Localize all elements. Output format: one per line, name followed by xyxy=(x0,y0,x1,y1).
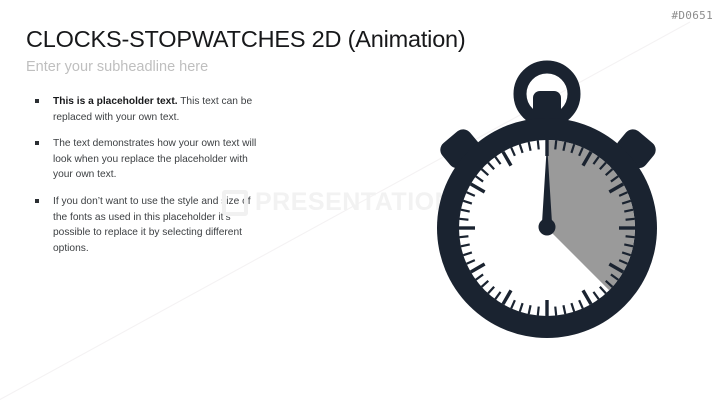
list-item-text: The text demonstrates how your own text … xyxy=(53,138,256,180)
list-item: This is a placeholder text. This text ca… xyxy=(34,94,264,125)
stopwatch-tick xyxy=(626,236,635,237)
page-title: CLOCKS-STOPWATCHES 2D (Animation) xyxy=(26,26,466,53)
bullet-square-icon xyxy=(35,99,39,103)
slide-code-label: #D0651 xyxy=(671,9,713,22)
stopwatch-graphic[interactable] xyxy=(420,55,680,355)
stopwatch-tick xyxy=(459,219,468,220)
stopwatch-tick xyxy=(555,307,556,316)
bullet-square-icon xyxy=(35,199,39,203)
stopwatch-tick xyxy=(626,219,635,220)
stopwatch-tick xyxy=(538,307,539,316)
list-item-text: If you don’t want to use the style and s… xyxy=(53,196,251,254)
slide-canvas: #D0651 CLOCKS-STOPWATCHES 2D (Animation)… xyxy=(0,0,727,409)
list-item: The text demonstrates how your own text … xyxy=(34,136,264,183)
stopwatch-tick xyxy=(538,140,539,149)
list-item: If you don’t want to use the style and s… xyxy=(34,194,264,256)
stopwatch-tick xyxy=(555,140,556,149)
stopwatch-tick xyxy=(459,236,468,237)
bullet-list: This is a placeholder text. This text ca… xyxy=(34,94,264,256)
stopwatch-center-hub xyxy=(539,219,556,236)
list-item-lead: This is a placeholder text. xyxy=(53,96,178,107)
page-subtitle: Enter your subheadline here xyxy=(26,59,208,75)
bullet-square-icon xyxy=(35,141,39,145)
stopwatch-body xyxy=(437,67,660,338)
